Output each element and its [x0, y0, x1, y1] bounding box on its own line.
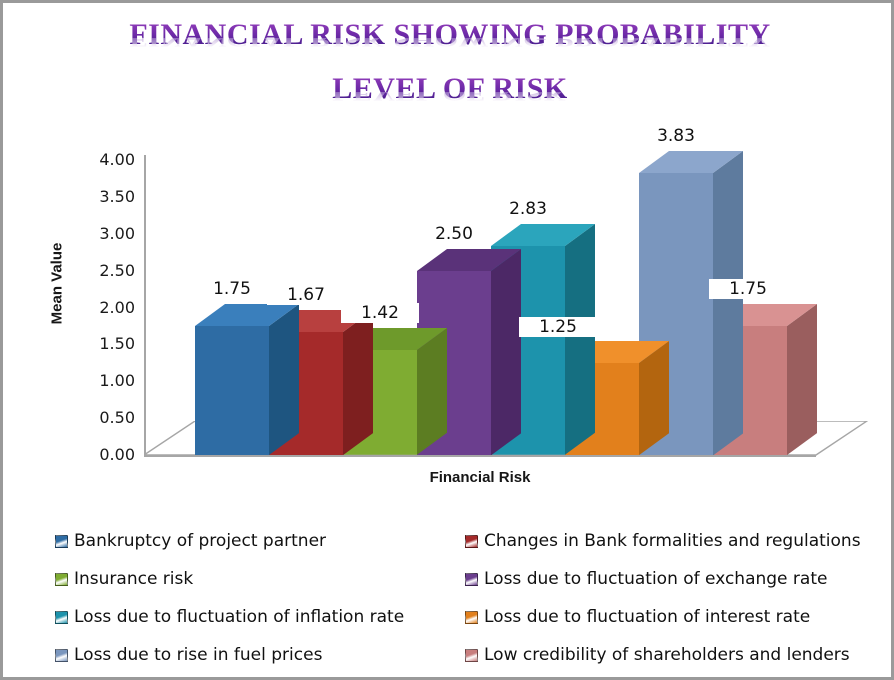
chart-page: FINANCIAL RISK SHOWING PROBABILITY FINAN… — [0, 0, 894, 680]
legend-row: Bankruptcy of project partnerChanges in … — [55, 522, 855, 560]
legend-label: Loss due to fluctuation of interest rate — [484, 607, 810, 627]
bar-value-label: 1.67 — [267, 285, 345, 305]
legend-swatch-icon — [55, 649, 68, 662]
legend-swatch-icon — [55, 611, 68, 624]
bar-side-face — [417, 328, 447, 455]
legend-swatch-icon — [465, 535, 478, 548]
legend-item[interactable]: Loss due to rise in fuel prices — [55, 645, 465, 665]
plot-area: Mean Value 4.003.503.002.502.001.501.000… — [3, 3, 894, 513]
bar-value-label: 3.83 — [637, 126, 715, 146]
legend-item[interactable]: Bankruptcy of project partner — [55, 531, 465, 551]
bar-side-face — [565, 224, 595, 455]
legend-item[interactable]: Loss due to fluctuation of exchange rate — [465, 569, 855, 589]
bar-series: 1.753.831.252.832.501.421.671.75 — [3, 3, 894, 513]
legend-swatch-icon — [465, 611, 478, 624]
legend-item[interactable]: Changes in Bank formalities and regulati… — [465, 531, 855, 551]
bar-side-face — [491, 249, 521, 455]
legend-swatch-icon — [465, 573, 478, 586]
legend-item[interactable]: Insurance risk — [55, 569, 465, 589]
bar-value-label: 1.75 — [709, 279, 787, 299]
x-axis-title: Financial Risk — [144, 469, 816, 486]
bar-value-label: 2.50 — [415, 224, 493, 244]
legend-row: Loss due to rise in fuel pricesLow credi… — [55, 636, 855, 674]
legend-label: Changes in Bank formalities and regulati… — [484, 531, 861, 551]
bar-value-label: 1.75 — [193, 279, 271, 299]
bar-column[interactable] — [195, 304, 299, 455]
bar-side-face — [343, 310, 373, 455]
legend-label: Loss due to fluctuation of exchange rate — [484, 569, 827, 589]
legend-item[interactable]: Loss due to fluctuation of inflation rat… — [55, 607, 465, 627]
chart-legend: Bankruptcy of project partnerChanges in … — [55, 522, 855, 674]
legend-swatch-icon — [55, 535, 68, 548]
legend-item[interactable]: Loss due to fluctuation of interest rate — [465, 607, 855, 627]
legend-swatch-icon — [55, 573, 68, 586]
legend-item[interactable]: Low credibility of shareholders and lend… — [465, 645, 855, 665]
bar-value-label: 2.83 — [489, 199, 567, 219]
bar-value-label: 1.42 — [341, 303, 419, 323]
legend-label: Loss due to rise in fuel prices — [74, 645, 322, 665]
bar-side-face — [269, 304, 299, 455]
bar-value-label: 1.25 — [519, 317, 597, 337]
legend-swatch-icon — [465, 649, 478, 662]
bar-side-face — [787, 304, 817, 455]
legend-label: Bankruptcy of project partner — [74, 531, 326, 551]
legend-row: Insurance riskLoss due to fluctuation of… — [55, 560, 855, 598]
bar-front-face — [195, 326, 269, 455]
legend-label: Low credibility of shareholders and lend… — [484, 645, 850, 665]
legend-label: Loss due to fluctuation of inflation rat… — [74, 607, 404, 627]
bar-side-face — [713, 151, 743, 455]
legend-label: Insurance risk — [74, 569, 193, 589]
legend-row: Loss due to fluctuation of inflation rat… — [55, 598, 855, 636]
